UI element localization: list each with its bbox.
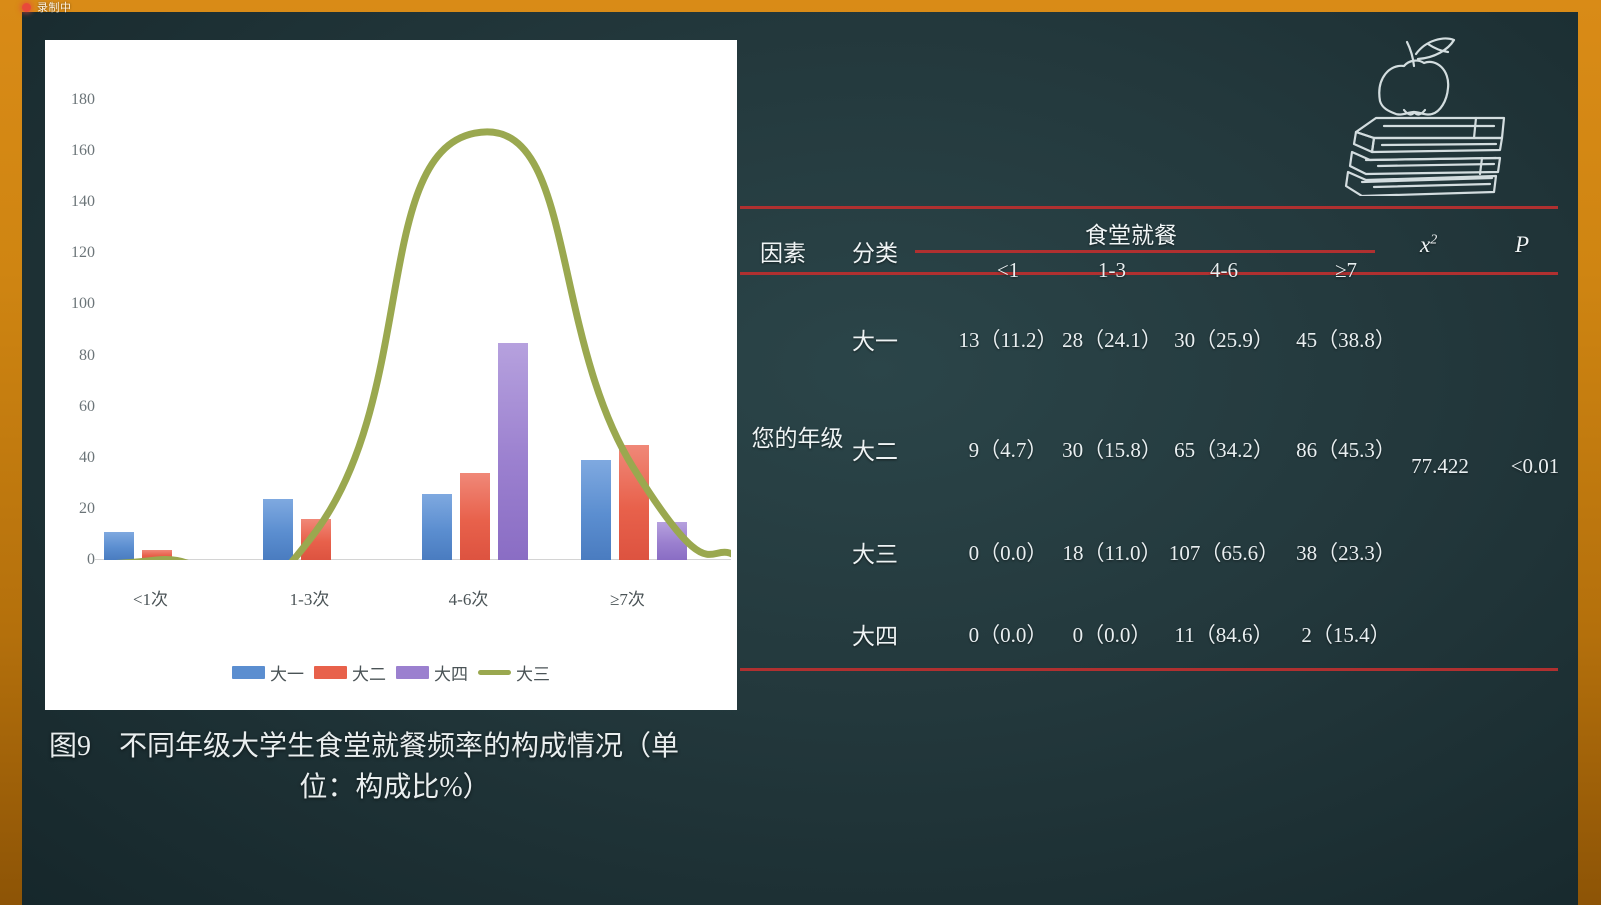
table-cell: 13（11.2） xyxy=(959,324,1058,354)
presentation-screen: 录制中 xyxy=(0,0,1601,905)
y-tick-20: 20 xyxy=(53,500,95,518)
table-subheader-2: 4-6 xyxy=(1210,258,1238,283)
legend-item-大一[interactable]: 大一 xyxy=(232,660,304,685)
legend-swatch-icon xyxy=(478,670,511,675)
caption-line-2: 位：构成比%） xyxy=(45,768,745,809)
table-cell: 28（24.1） xyxy=(1062,324,1162,354)
table-cell: 45（38.8） xyxy=(1296,324,1396,354)
legend-swatch-icon xyxy=(314,666,347,679)
table-cell: 2（15.4） xyxy=(1301,619,1390,649)
table-row-label: 大四 xyxy=(852,617,898,651)
table-row: 大三0（0.0）18（11.0）107（65.6）38（23.3） xyxy=(740,535,1558,575)
table-row-label: 大一 xyxy=(852,322,898,356)
y-tick-100: 100 xyxy=(53,295,95,313)
table-header-span: 食堂就餐 xyxy=(1085,216,1177,250)
legend-label: 大三 xyxy=(516,660,550,685)
table-cell: 18（11.0） xyxy=(1063,537,1162,567)
table-row-label: 大二 xyxy=(852,432,898,466)
y-tick-80: 80 xyxy=(53,347,95,365)
table-cell: 0（0.0） xyxy=(969,537,1048,567)
table-cell: 0（0.0） xyxy=(1073,619,1152,649)
y-tick-160: 160 xyxy=(53,142,95,160)
slide-content: 180160140120100806040200 <1次1-3次4-6次≥7次 … xyxy=(22,12,1578,905)
table-cell: 11（84.6） xyxy=(1175,619,1274,649)
y-tick-60: 60 xyxy=(53,398,95,416)
table-cell: 65（34.2） xyxy=(1174,434,1274,464)
table-cell: 9（4.7） xyxy=(969,434,1048,464)
legend-item-大四[interactable]: 大四 xyxy=(396,660,468,685)
legend-label: 大一 xyxy=(270,660,304,685)
legend-label: 大二 xyxy=(352,660,386,685)
caption-line-1: 图9 不同年级大学生食堂就餐频率的构成情况（单 xyxy=(45,727,745,768)
y-tick-0: 0 xyxy=(53,551,95,569)
table-rule-header xyxy=(740,272,1558,275)
apple-books-icon xyxy=(1308,26,1523,196)
recording-label: 录制中 xyxy=(37,0,72,15)
table-cell: 30（15.8） xyxy=(1062,434,1162,464)
table-header-classification: 分类 xyxy=(852,234,898,268)
table-rule-span xyxy=(915,250,1375,253)
table-row: 大一13（11.2）28（24.1）30（25.9）45（38.8） xyxy=(740,322,1558,362)
table-rule-top xyxy=(740,206,1558,209)
legend-swatch-icon xyxy=(232,666,265,679)
record-dot-icon xyxy=(22,3,31,12)
chart-legend: 大一大二大四大三 xyxy=(45,660,737,685)
table-header-factor: 因素 xyxy=(760,234,806,268)
x-tick-2: 4-6次 xyxy=(449,585,489,610)
table-cell: 30（25.9） xyxy=(1174,324,1274,354)
legend-label: 大四 xyxy=(434,660,468,685)
y-tick-180: 180 xyxy=(53,91,95,109)
table-subheader-0: <1 xyxy=(997,258,1019,283)
legend-swatch-icon xyxy=(396,666,429,679)
table-header-chi-square: x2 xyxy=(1420,232,1437,258)
y-tick-120: 120 xyxy=(53,244,95,262)
x-tick-0: <1次 xyxy=(133,585,168,610)
statistics-table: 因素 分类 食堂就餐 x2 P <11-34-6≥7 您的年级 大一13（11.… xyxy=(740,202,1558,682)
table-rule-bottom xyxy=(740,668,1558,671)
legend-item-大二[interactable]: 大二 xyxy=(314,660,386,685)
table-header-p-value: P xyxy=(1515,232,1529,258)
table-subheader-1: 1-3 xyxy=(1098,258,1126,283)
y-axis-tick-labels: 180160140120100806040200 xyxy=(45,40,95,710)
recording-indicator: 录制中 xyxy=(0,0,150,14)
y-tick-140: 140 xyxy=(53,193,95,211)
table-chi-square-value: 77.422 xyxy=(1411,454,1469,479)
table-cell: 38（23.3） xyxy=(1296,537,1396,567)
table-p-value: <0.01 xyxy=(1511,454,1560,479)
figure-caption: 图9 不同年级大学生食堂就餐频率的构成情况（单 位：构成比%） xyxy=(45,727,745,808)
y-tick-40: 40 xyxy=(53,449,95,467)
table-cell: 86（45.3） xyxy=(1296,434,1396,464)
table-subheader-3: ≥7 xyxy=(1335,258,1357,283)
x-tick-1: 1-3次 xyxy=(290,585,330,610)
legend-item-大三[interactable]: 大三 xyxy=(478,660,550,685)
table-row: 大四0（0.0）0（0.0）11（84.6）2（15.4） xyxy=(740,617,1558,657)
table-cell: 0（0.0） xyxy=(969,619,1048,649)
table-cell: 107（65.6） xyxy=(1169,537,1279,567)
x-tick-3: ≥7次 xyxy=(610,585,645,610)
table-row-label: 大三 xyxy=(852,535,898,569)
chart-plot-area: 180160140120100806040200 <1次1-3次4-6次≥7次 … xyxy=(45,40,737,710)
chart-figure: 180160140120100806040200 <1次1-3次4-6次≥7次 … xyxy=(45,40,737,710)
line-series-daisan xyxy=(95,100,731,560)
